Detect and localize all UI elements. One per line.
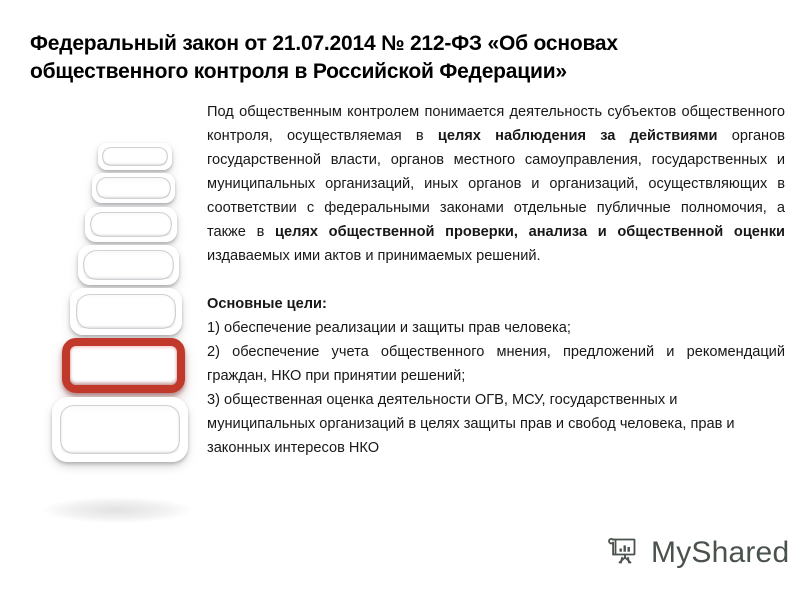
stack-frame <box>70 288 182 335</box>
goal-item-3: 3) общественная оценка деятельности ОГВ,… <box>207 388 785 460</box>
definition-part-3: издаваемых ими актов и принимаемых решен… <box>207 248 541 264</box>
stack-frame-highlighted <box>62 338 185 393</box>
page-title-line-2: общественного контроля в Российской Феде… <box>30 58 730 86</box>
goals-section: Основные цели: 1) обеспечение реализации… <box>207 268 785 460</box>
stack-frame <box>98 143 172 170</box>
goals-heading: Основные цели: <box>207 292 785 316</box>
body-text-column: Под общественным контролем понимается де… <box>207 100 785 460</box>
stack-frame <box>92 173 175 203</box>
stack-frame <box>85 207 177 242</box>
definition-bold-2: целях общественной проверки, анализа и о… <box>275 224 785 240</box>
perspective-frame-stack-graphic <box>30 125 205 525</box>
definition-bold-1: целях наблюдения за действиями <box>438 128 718 144</box>
stack-ground-shadow <box>42 497 192 523</box>
definition-paragraph: Под общественным контролем понимается де… <box>207 100 785 268</box>
myshared-logo: MyShared <box>608 533 789 572</box>
goal-item-2: 2) обеспечение учета общественного мнени… <box>207 340 785 388</box>
page-title: Федеральный закон от 21.07.2014 № 212-ФЗ… <box>30 30 730 86</box>
goal-item-1: 1) обеспечение реализации и защиты прав … <box>207 316 785 340</box>
stack-frame <box>52 397 188 462</box>
page-title-line-1: Федеральный закон от 21.07.2014 № 212-ФЗ… <box>30 30 730 58</box>
stack-frame <box>78 245 179 285</box>
presentation-chart-icon <box>608 533 642 572</box>
slide-canvas: Федеральный закон от 21.07.2014 № 212-ФЗ… <box>0 0 800 600</box>
myshared-logo-text: MyShared <box>651 538 789 568</box>
